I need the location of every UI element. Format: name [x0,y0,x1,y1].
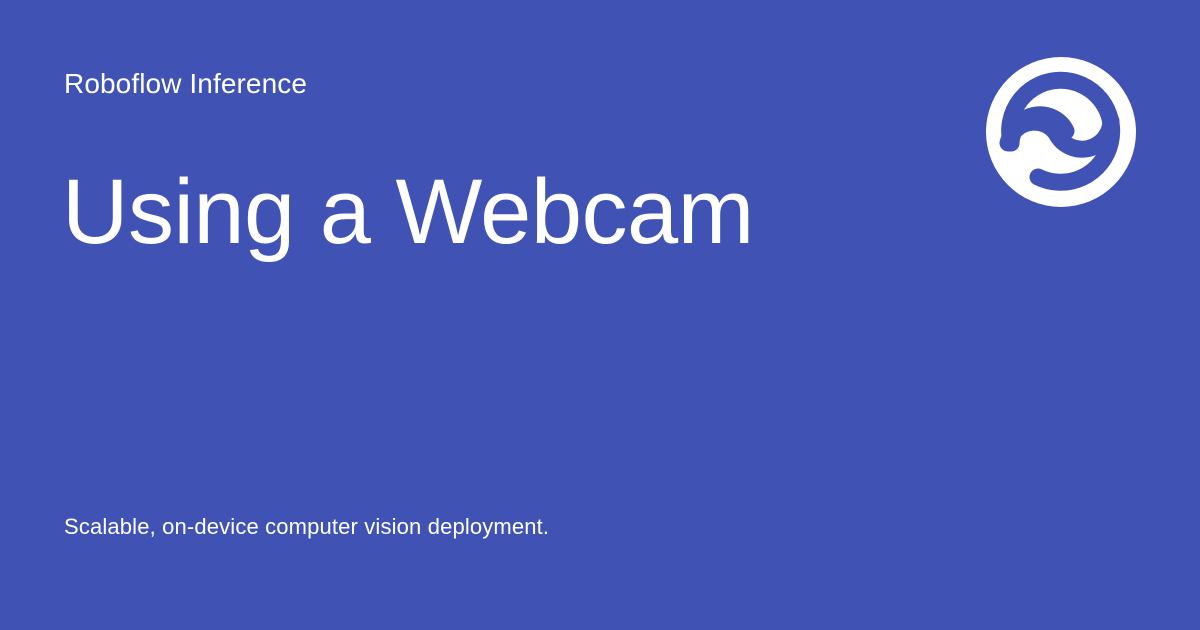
tagline: Scalable, on-device computer vision depl… [64,512,549,542]
eyebrow-label: Roboflow Inference [64,66,307,102]
page-title: Using a Webcam [62,160,754,264]
social-card: Roboflow Inference Using a Webcam Scalab… [0,0,1200,630]
roboflow-logo-icon [986,57,1136,207]
